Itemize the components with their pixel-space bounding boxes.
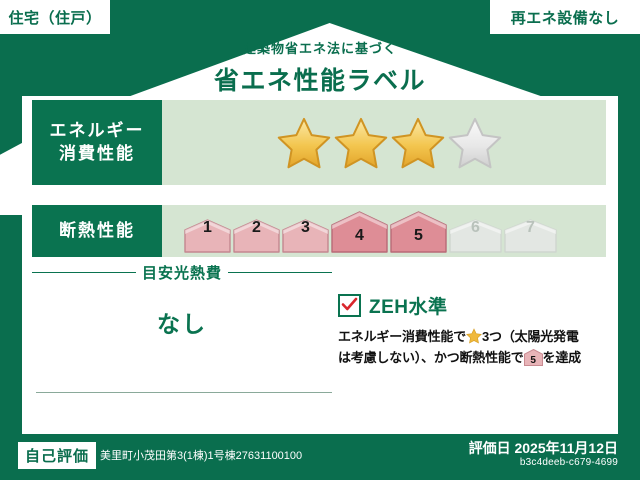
energy-label-line1: エネルギー — [50, 120, 145, 143]
building-type-tag: 住宅（住戸） — [0, 0, 110, 34]
inline-house-value: 5 — [524, 356, 543, 366]
insulation-value: 1234567 — [162, 205, 606, 257]
evaluation-date-label: 評価日 — [469, 440, 511, 456]
grade-value: 4 — [331, 227, 388, 245]
title-subtitle: 建築物省エネ法に基づく — [0, 38, 640, 57]
zeh-title-row: ZEH水準 — [338, 292, 610, 319]
grade-value: 6 — [449, 219, 502, 237]
label-uid: b3c4deeb-c679-4699 — [520, 457, 618, 468]
star-empty-icon — [448, 116, 502, 170]
renewable-energy-tag: 再エネ設備なし — [490, 0, 640, 34]
cost-divider — [36, 392, 332, 393]
insulation-grade-3: 3 — [282, 209, 329, 253]
grade-value: 3 — [282, 219, 329, 237]
insulation-grade-4: 4 — [331, 209, 388, 253]
star-rating — [277, 116, 502, 170]
energy-performance-label: 住宅（住戸） 再エネ設備なし 建築物省エネ法に基づく 省エネ性能ラベル エネルギ… — [0, 0, 640, 480]
zeh-desc-part3: を達成 — [543, 350, 581, 365]
insulation-grade-1: 1 — [184, 209, 231, 253]
zeh-desc-line2-part1: は考慮しない）、かつ断熱性能で — [338, 350, 524, 365]
insulation-performance-row: 断熱性能 1234567 — [32, 205, 606, 257]
energy-consumption-value — [162, 100, 606, 185]
self-evaluation-badge: 自己評価 — [18, 442, 96, 469]
insulation-label-text: 断熱性能 — [59, 220, 135, 243]
energy-consumption-row: エネルギー 消費性能 — [32, 100, 606, 185]
insulation-label: 断熱性能 — [32, 205, 162, 257]
cost-rule-right — [228, 272, 332, 273]
zeh-checkbox[interactable] — [338, 294, 361, 317]
energy-label-line2: 消費性能 — [59, 143, 135, 166]
star-filled-icon — [277, 116, 331, 170]
grade-value: 7 — [504, 219, 557, 237]
insulation-grade-2: 2 — [233, 209, 280, 253]
star-filled-icon — [334, 116, 388, 170]
insulation-grade-5: 5 — [390, 209, 447, 253]
zeh-desc-part1: エネルギー消費性能で — [338, 329, 466, 344]
cost-heading-text: 目安光熱費 — [142, 262, 222, 283]
cost-rule-left — [32, 272, 136, 273]
zeh-desc-part2: 3つ（太陽光発電 — [482, 329, 579, 344]
inline-house-badge: 5 — [524, 349, 543, 366]
zeh-title-text: ZEH水準 — [369, 292, 448, 319]
utility-cost-value: なし — [32, 305, 332, 339]
title-main: 省エネ性能ラベル — [0, 61, 640, 97]
grade-value: 2 — [233, 219, 280, 237]
energy-consumption-label: エネルギー 消費性能 — [32, 100, 162, 185]
insulation-grade-7: 7 — [504, 209, 557, 253]
star-filled-icon — [391, 116, 445, 170]
zeh-block: ZEH水準 エネルギー消費性能で3つ（太陽光発電 は考慮しない）、かつ断熱性能で… — [338, 292, 610, 368]
insulation-grade-6: 6 — [449, 209, 502, 253]
page-title: 建築物省エネ法に基づく 省エネ性能ラベル — [0, 38, 640, 97]
inline-star-icon — [466, 328, 482, 344]
grade-value: 1 — [184, 219, 231, 237]
grade-value: 5 — [390, 227, 447, 245]
evaluation-date: 評価日 2025年11月12日 — [469, 438, 618, 458]
zeh-description: エネルギー消費性能で3つ（太陽光発電 は考慮しない）、かつ断熱性能で5を達成 — [338, 326, 610, 368]
property-address: 美里町小茂田第3(1棟)1号棟27631100100 — [100, 447, 302, 463]
insulation-grade-scale: 1234567 — [184, 209, 557, 253]
evaluation-date-value: 2025年11月12日 — [514, 440, 618, 456]
label-footer: 自己評価 美里町小茂田第3(1棟)1号棟27631100100 評価日 2025… — [0, 434, 640, 480]
check-icon — [341, 296, 358, 313]
utility-cost-heading: 目安光熱費 — [32, 262, 332, 282]
